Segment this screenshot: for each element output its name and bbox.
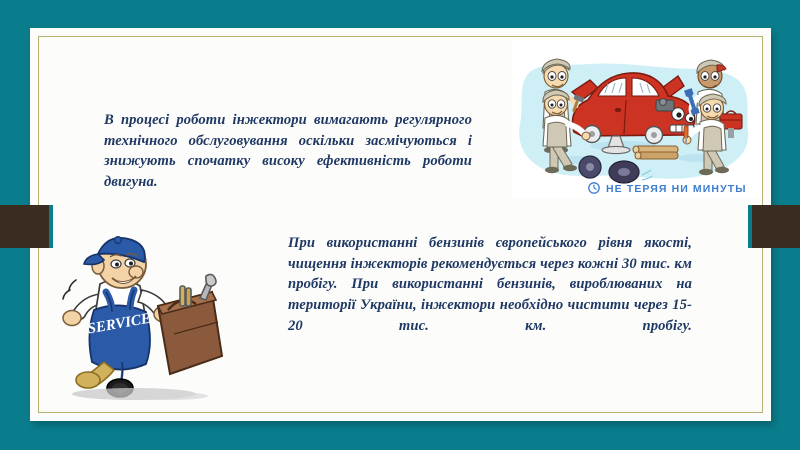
ribbon-notch-right — [748, 205, 752, 248]
car-image-caption: НЕ ТЕРЯЯ НИ МИНУТЫ — [589, 183, 747, 195]
paragraph-injector-maintenance: В процесі роботи інжектори вимагають рег… — [104, 110, 472, 214]
service-man-illustration: SERVICE — [48, 228, 240, 400]
decorative-ribbon-left — [0, 205, 53, 248]
svg-text:НЕ ТЕРЯЯ НИ МИНУТЫ: НЕ ТЕРЯЯ НИ МИНУТЫ — [606, 183, 747, 195]
paragraph-cleaning-intervals: При використанні бензинів європейського … — [288, 233, 692, 357]
car-repair-illustration: НЕ ТЕРЯЯ НИ МИНУТЫ — [512, 40, 762, 198]
decorative-ribbon-right — [748, 205, 800, 248]
